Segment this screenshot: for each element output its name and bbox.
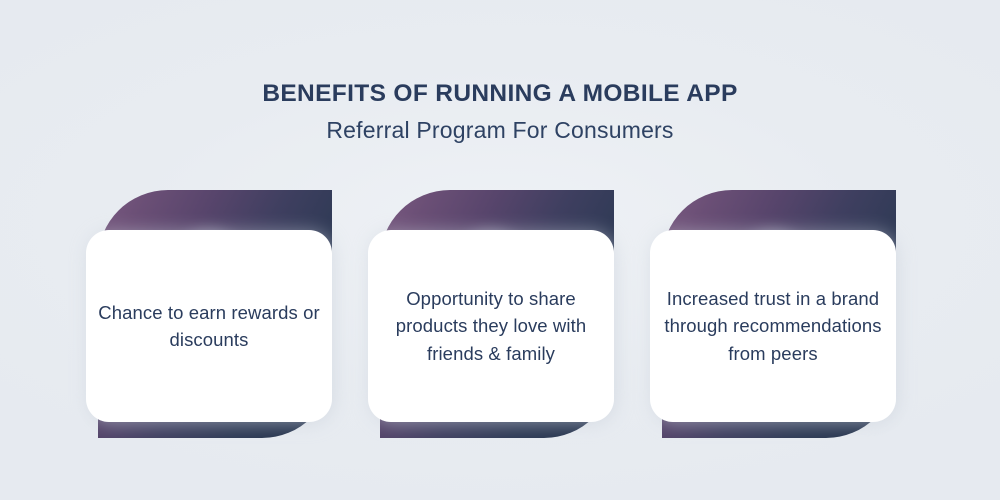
- card-label: Opportunity to share products they love …: [378, 285, 604, 367]
- infographic-canvas: BENEFITS OF RUNNING A MOBILE APP Referra…: [0, 0, 1000, 500]
- benefit-cards-row: Chance to earn rewards or discounts Oppo…: [0, 190, 1000, 460]
- card-label: Chance to earn rewards or discounts: [96, 299, 322, 353]
- card-text-wrapper: Opportunity to share products they love …: [368, 230, 614, 422]
- benefit-card-1: Chance to earn rewards or discounts: [86, 190, 332, 455]
- title-line-2: Referral Program For Consumers: [0, 119, 1000, 142]
- page-title: BENEFITS OF RUNNING A MOBILE APP Referra…: [0, 82, 1000, 142]
- benefit-card-3: Increased trust in a brand through recom…: [650, 190, 896, 455]
- card-text-wrapper: Chance to earn rewards or discounts: [86, 230, 332, 422]
- card-label: Increased trust in a brand through recom…: [660, 285, 886, 367]
- title-line-1: BENEFITS OF RUNNING A MOBILE APP: [0, 82, 1000, 107]
- card-text-wrapper: Increased trust in a brand through recom…: [650, 230, 896, 422]
- benefit-card-2: Opportunity to share products they love …: [368, 190, 614, 455]
